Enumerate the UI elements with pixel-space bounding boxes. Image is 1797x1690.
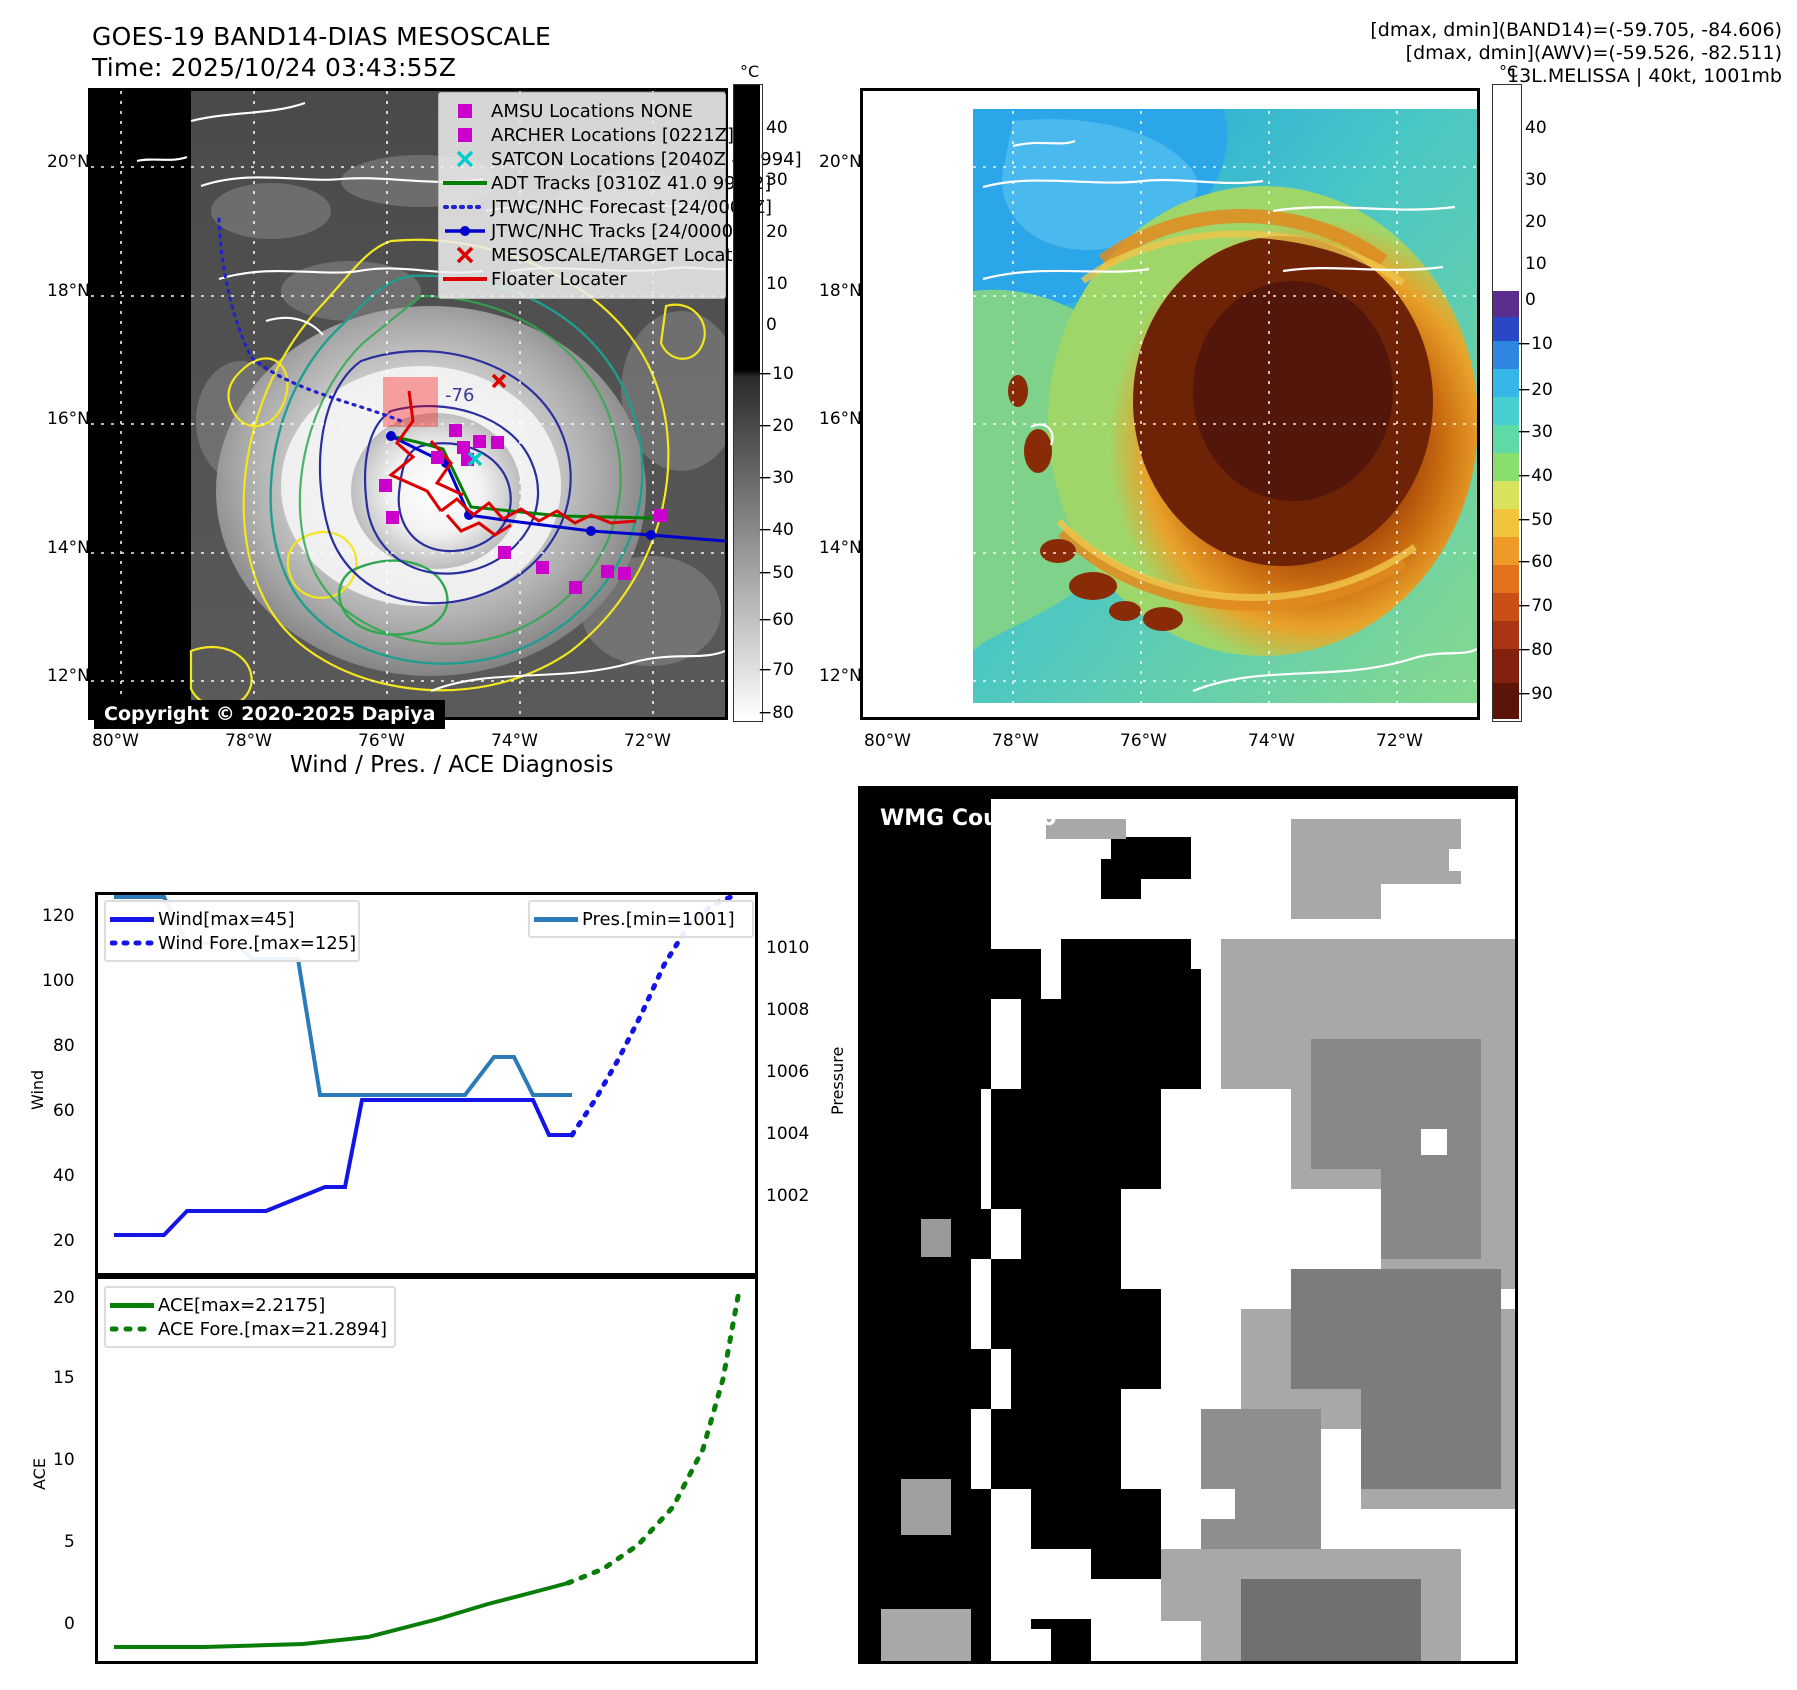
colorbar-left-tick-2: 20 [766, 222, 788, 242]
satcon-cross-icon [439, 149, 491, 169]
legend-item-amsu[interactable]: AMSU Locations NONE [439, 99, 725, 123]
colorbar-right-tick-3: 10 [1525, 254, 1547, 274]
header-dmax-awv: [dmax, dmin](AWV)=(-59.526, -82.511) [1406, 41, 1782, 66]
colorbar-left-tick-11: −70 [758, 660, 794, 680]
colorbar-right-tick-6: −20 [1517, 380, 1553, 400]
wind-forecast-dotted-icon [106, 939, 158, 947]
map-panel-awv[interactable] [860, 88, 1480, 720]
lat-tick-left-1: 18°N [47, 281, 90, 301]
colorbar-unit-right: °C [1499, 62, 1518, 81]
ace-ytick-15: 15 [53, 1368, 75, 1388]
ace-line-icon [106, 1303, 158, 1308]
colorbar-right-tick-5: −10 [1517, 334, 1553, 354]
wmg-count-label: WMG Count: 0 [880, 806, 1057, 831]
wind-ytick-40: 40 [53, 1166, 75, 1186]
wmg-panel[interactable] [858, 786, 1518, 1664]
ace-forecast-dotted-icon [106, 1325, 158, 1333]
ace-ytick-5: 5 [64, 1532, 75, 1552]
colorbar-right-tick-4: 0 [1525, 290, 1536, 310]
amsu-square-icon [439, 104, 491, 118]
header-dmax-band14: [dmax, dmin](BAND14)=(-59.705, -84.606) [1370, 18, 1782, 43]
pressure-line-icon [530, 917, 582, 922]
legend-label: Floater Locater [491, 269, 627, 290]
copyright-banner: Copyright © 2020-2025 Dapiya [94, 700, 445, 729]
colorbar-right-tick-7: −30 [1517, 422, 1553, 442]
legend-label: MESOSCALE/TARGET Location [491, 245, 760, 266]
colorbar-left-tick-0: 40 [766, 118, 788, 138]
colorbar-unit-left: °C [740, 62, 759, 81]
header-storm-info: 13L.MELISSA | 40kt, 1001mb [1507, 64, 1782, 89]
contour-value-label: -76 [445, 385, 474, 406]
ace-ytick-10: 10 [53, 1450, 75, 1470]
ace-ytick-20: 20 [53, 1288, 75, 1308]
lat-tick-right-1: 18°N [819, 281, 862, 301]
wind-line-icon [106, 917, 158, 922]
floater-line-icon [439, 277, 491, 281]
legend-item-floater-locater[interactable]: Floater Locater [439, 267, 725, 291]
wind-ytick-20: 20 [53, 1231, 75, 1251]
colorbar-right-tick-13: −90 [1517, 684, 1553, 704]
page-title: GOES-19 BAND14-DIAS MESOSCALE [92, 22, 551, 51]
lon-tick-left-1: 78°W [225, 731, 272, 751]
legend-label: JTWC/NHC Forecast [24/0000Z] [491, 197, 772, 218]
colorbar-left-tick-5: −10 [758, 364, 794, 384]
jtwc-forecast-dotted-icon [439, 203, 491, 211]
pres-ytick-1002: 1002 [766, 1186, 809, 1206]
legend-item-wind-forecast[interactable]: Wind Fore.[max=125] [106, 931, 358, 955]
wind-ytick-60: 60 [53, 1101, 75, 1121]
pressure-legend[interactable]: Pres.[min=1001] [528, 900, 754, 938]
legend-item-mesoscale-target[interactable]: MESOSCALE/TARGET Location [439, 243, 725, 267]
colorbar-right-tick-10: −60 [1517, 552, 1553, 572]
colorbar-left-tick-9: −50 [758, 563, 794, 583]
legend-label: ACE Fore.[max=21.2894] [158, 1319, 387, 1340]
colorbar-right-tick-12: −80 [1517, 640, 1553, 660]
colorbar-right-tick-1: 30 [1525, 170, 1547, 190]
lat-tick-left-2: 16°N [47, 409, 90, 429]
legend-label: ACE[max=2.2175] [158, 1295, 325, 1316]
lat-tick-left-0: 20°N [47, 152, 90, 172]
legend-item-adt-tracks[interactable]: ADT Tracks [0310Z 41.0 998.2] [439, 171, 725, 195]
legend-item-satcon[interactable]: SATCON Locations [2040Z 46 994] [439, 147, 725, 171]
pres-ytick-1008: 1008 [766, 1000, 809, 1020]
lon-tick-right-3: 74°W [1248, 731, 1295, 751]
colorbar-left-tick-7: −30 [758, 468, 794, 488]
legend-label: Wind[max=45] [158, 909, 295, 930]
wind-ytick-80: 80 [53, 1036, 75, 1056]
legend-label: AMSU Locations NONE [491, 101, 693, 122]
wind-axis-label: Wind [28, 1070, 47, 1110]
awv-enhanced-image [863, 91, 1477, 717]
lon-tick-left-2: 76°W [358, 731, 405, 751]
archer-square-icon [439, 128, 491, 142]
colorbar-left-tick-8: −40 [758, 520, 794, 540]
pres-ytick-1010: 1010 [766, 938, 809, 958]
legend-item-ace[interactable]: ACE[max=2.2175] [106, 1293, 394, 1317]
legend-label: ARCHER Locations [0221Z] [491, 125, 734, 146]
colorbar-right-tick-11: −70 [1517, 596, 1553, 616]
colorbar-left-tick-6: −20 [758, 416, 794, 436]
legend-item-archer[interactable]: ARCHER Locations [0221Z] [439, 123, 725, 147]
lon-tick-right-1: 78°W [992, 731, 1039, 751]
lat-tick-right-0: 20°N [819, 152, 862, 172]
wind-legend[interactable]: Wind[max=45] Wind Fore.[max=125] [104, 900, 360, 962]
pressure-axis-label: Pressure [828, 1047, 847, 1115]
legend-label: Pres.[min=1001] [582, 909, 735, 930]
wind-ytick-120: 120 [42, 906, 74, 926]
lon-tick-left-0: 80°W [92, 731, 139, 751]
diagnosis-title: Wind / Pres. / ACE Diagnosis [290, 752, 613, 778]
legend-item-pressure[interactable]: Pres.[min=1001] [530, 907, 752, 931]
legend-item-jtwc-tracks[interactable]: JTWC/NHC Tracks [24/0000Z] [439, 219, 725, 243]
map-legend[interactable]: AMSU Locations NONE ARCHER Locations [02… [438, 92, 726, 299]
colorbar-right-tick-8: −40 [1517, 466, 1553, 486]
colorbar-right[interactable] [1492, 84, 1522, 722]
colorbar-right-tick-0: 40 [1525, 118, 1547, 138]
legend-label: ADT Tracks [0310Z 41.0 998.2] [491, 173, 771, 194]
colorbar-left-tick-4: 0 [766, 315, 777, 335]
ace-legend[interactable]: ACE[max=2.2175] ACE Fore.[max=21.2894] [104, 1286, 396, 1348]
wind-ytick-100: 100 [42, 971, 74, 991]
jtwc-track-line-icon [439, 225, 491, 237]
legend-label: JTWC/NHC Tracks [24/0000Z] [491, 221, 752, 242]
colorbar-right-tick-2: 20 [1525, 212, 1547, 232]
pres-ytick-1006: 1006 [766, 1062, 809, 1082]
lat-tick-right-2: 16°N [819, 409, 862, 429]
ace-ytick-0: 0 [64, 1614, 75, 1634]
colorbar-right-tick-9: −50 [1517, 510, 1553, 530]
legend-item-wind[interactable]: Wind[max=45] [106, 907, 358, 931]
legend-item-jtwc-forecast[interactable]: JTWC/NHC Forecast [24/0000Z] [439, 195, 725, 219]
pres-ytick-1004: 1004 [766, 1124, 809, 1144]
lat-tick-right-4: 12°N [819, 666, 862, 686]
mesoscale-target-x-icon [439, 245, 491, 265]
colorbar-left-tick-12: −80 [758, 703, 794, 723]
ace-axis-label: ACE [30, 1458, 49, 1490]
lon-tick-left-4: 72°W [624, 731, 671, 751]
wmg-mask-image [861, 789, 1515, 1661]
colorbar-left-tick-10: −60 [758, 610, 794, 630]
legend-item-ace-forecast[interactable]: ACE Fore.[max=21.2894] [106, 1317, 394, 1341]
legend-label: Wind Fore.[max=125] [158, 933, 356, 954]
colorbar-left-tick-1: 30 [766, 170, 788, 190]
lon-tick-left-3: 74°W [491, 731, 538, 751]
lon-tick-right-0: 80°W [864, 731, 911, 751]
adt-line-icon [439, 181, 491, 185]
lat-tick-right-3: 14°N [819, 538, 862, 558]
colorbar-left-tick-3: 10 [766, 274, 788, 294]
lat-tick-left-3: 14°N [47, 538, 90, 558]
lon-tick-right-2: 76°W [1120, 731, 1167, 751]
lon-tick-right-4: 72°W [1376, 731, 1423, 751]
lat-tick-left-4: 12°N [47, 666, 90, 686]
page-time: Time: 2025/10/24 03:43:55Z [92, 53, 456, 82]
